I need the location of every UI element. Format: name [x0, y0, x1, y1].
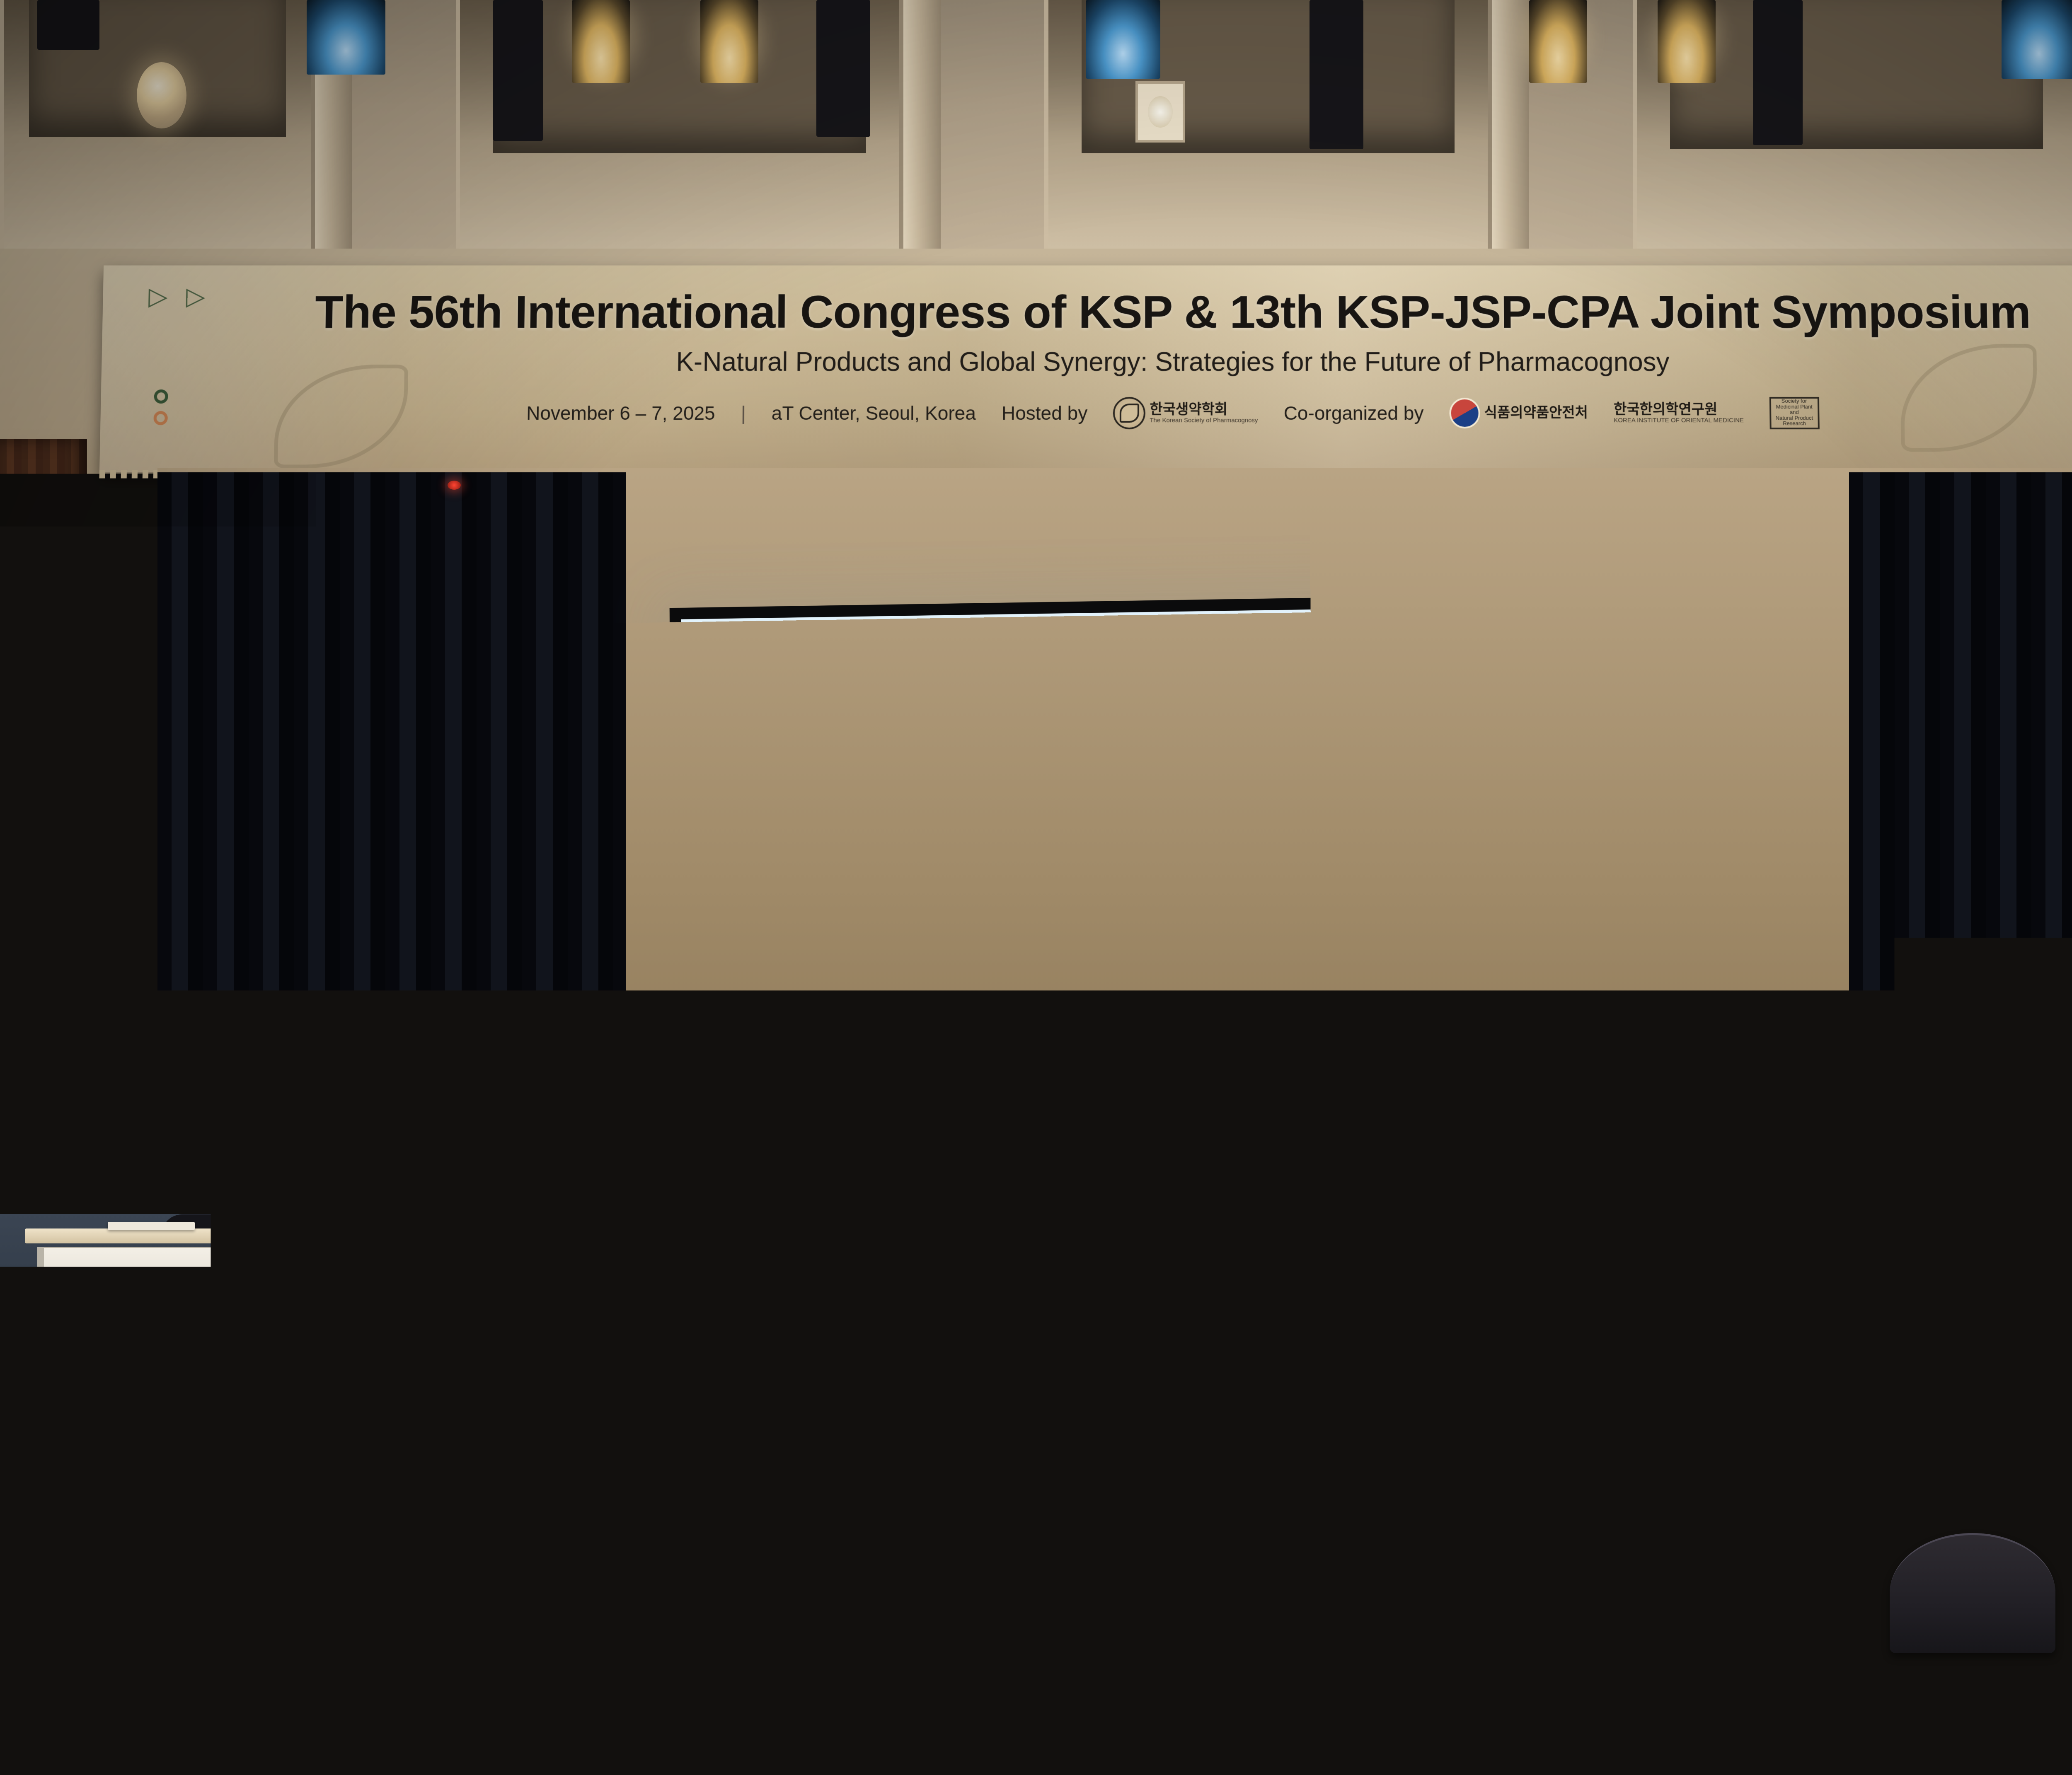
- banner-separator: |: [741, 402, 746, 424]
- map-place-label: Padang: [1279, 937, 1306, 947]
- stage-table-modesty-panel: [42, 1247, 307, 1309]
- congress-banner: ▷ ▷ <<< The 56th International Congress …: [99, 266, 2072, 473]
- slide-university-label: ITB: [900, 1105, 928, 1123]
- slide-university-label: Peking University: [867, 975, 973, 994]
- slide-blue-note: Malaysia and Indonesia covers only 1.3% …: [1222, 1056, 1666, 1127]
- stage-light-warm: [1529, 0, 1587, 83]
- world-collaboration-panel: Field ResearchJapanBrazil, PeruIndonesia…: [721, 873, 1234, 1190]
- slide-university-label: USM: [876, 1054, 911, 1071]
- host-org-en: The Korean Society of Pharmacognosy: [1150, 417, 1258, 424]
- slide-bottom-note: Malaysia and Indonesia belong to Mega-Di…: [721, 1151, 1661, 1205]
- coorg-kiom-logo: 한국한의학연구원 KOREA INSTITUTE OF ORIENTAL MED…: [1614, 402, 1744, 424]
- map-place-label: Kalimantan: [1482, 915, 1522, 925]
- ceiling-beam: [1492, 0, 1529, 265]
- host-org-name: 한국생약학회 The Korean Society of Pharmacogno…: [1150, 402, 1258, 424]
- smartphone-icon[interactable]: [1664, 1222, 1726, 1261]
- chair: [995, 1548, 1160, 1672]
- stage-table-top: [25, 1228, 340, 1243]
- map-place-label: INDIAN: [1240, 1018, 1267, 1028]
- map-place-label: Palembang: [1336, 962, 1376, 972]
- slide-university-group: Hoshi UniversityUppsala UniversityPeking…: [722, 875, 1229, 880]
- coorganized-by-label: Co-organized by: [1284, 402, 1424, 424]
- ceiling-coffer-inner: [493, 0, 866, 153]
- cream-folder[interactable]: [1558, 1487, 1658, 1514]
- stage-table-leg: [37, 1247, 44, 1350]
- landmass-sulawesi: [1591, 880, 1668, 1006]
- map-place-label: Banjarmasin: [1441, 972, 1485, 981]
- papers-on-desk: [1973, 1487, 2072, 1516]
- coorg2-name: 한국한의학연구원 KOREA INSTITUTE OF ORIENTAL MED…: [1614, 402, 1744, 424]
- ceiling-coffer-inner: [1670, 0, 2043, 149]
- coorg3-line1: Society for Medicinal Plant and: [1772, 398, 1816, 415]
- map-place-label: Medan: [1262, 862, 1287, 871]
- slide-ellipse-label: Field Research: [878, 886, 1001, 930]
- stage-side-table: [25, 1228, 340, 1353]
- slide-yellow-callout: Hoshi University collaborate with many u…: [721, 731, 1132, 817]
- slide-university-label: Hoshi University: [927, 943, 1027, 961]
- map-place-label: Jakarta: [1387, 1017, 1413, 1027]
- chair: [50, 1562, 215, 1686]
- banner-title: The 56th International Congress of KSP &…: [102, 285, 2072, 339]
- map-place-label: Palawan: [1489, 758, 1520, 767]
- stage-curtain-right: [1849, 472, 2072, 1214]
- coorg-ga-logo: Society for Medicinal Plant and Natural …: [1769, 397, 1819, 429]
- coorg2-en: KOREA INSTITUTE OF ORIENTAL MEDICINE: [1614, 417, 1744, 424]
- stage-light-rig: [37, 0, 99, 50]
- slide-ellipse-group: Field ResearchJapanBrazil, PeruIndonesia…: [722, 875, 1229, 880]
- conference-hall-photo: ▷ ▷ <<< The 56th International Congress …: [0, 0, 2072, 1775]
- ceiling-beam: [903, 0, 941, 265]
- slide-university-label: UiTM: [951, 1079, 989, 1097]
- banner-date: November 6 – 7, 2025: [526, 402, 715, 424]
- map-place-label: Thailand: [1298, 762, 1328, 771]
- map-place-label: Sumatra: [1314, 949, 1344, 959]
- stage-curtain-left: [157, 472, 626, 1214]
- research-site-circle: [1515, 878, 1562, 924]
- map-place-label: Borneo: [1474, 883, 1499, 892]
- map-place-label: SINGAPORE: [1349, 888, 1397, 897]
- coorg1-name: 식품의약품안전처: [1484, 406, 1588, 421]
- stage-light-rig: [1310, 0, 1363, 149]
- water-bottle[interactable]: [1500, 1450, 1524, 1520]
- stage-light-rig: [816, 0, 870, 137]
- banner-subtitle: K-Natural Products and Global Synergy: S…: [102, 346, 2072, 377]
- stage-light-blue: [2002, 0, 2072, 79]
- map-place-label: GREATER SUNDA ISLANDS: [1404, 994, 1601, 1009]
- stage-light-rig: [1753, 0, 1803, 145]
- map-place-label: OCEAN: [1240, 1038, 1268, 1047]
- map-place-label: China: [1514, 719, 1556, 733]
- papers-on-desk: [1343, 1450, 1446, 1475]
- recessed-ceiling-spot-icon: [1135, 81, 1185, 143]
- open-laptop[interactable]: [1579, 1533, 1728, 1629]
- stage-light-warm: [700, 0, 758, 83]
- wood-wall-panel-left: [0, 439, 87, 1144]
- desk-rail: [671, 1542, 1227, 1576]
- coorg2-kr: 한국한의학연구원: [1614, 402, 1744, 417]
- audience-desk: [671, 1516, 1227, 1542]
- continent-north-america: [1034, 904, 1184, 1030]
- caster-wheel-icon: [34, 1340, 46, 1352]
- presentation-slide: Collaboration Research with Foreign Coun…: [681, 604, 1687, 1216]
- slide-university-label: UPM: [913, 1080, 948, 1097]
- map-place-label: Bandar Seri Begawan: [1431, 820, 1509, 830]
- stage-light-rig: [493, 0, 543, 141]
- papers-on-stage-table: [108, 1222, 195, 1230]
- map-place-label: Bengkulu: [1251, 977, 1284, 986]
- map-place-label: Makassar: [1512, 970, 1547, 979]
- laptop-screen: [1585, 1539, 1722, 1623]
- map-place-label: Surabaya: [1437, 1024, 1471, 1034]
- caster-wheel-icon: [316, 1340, 328, 1352]
- map-place-label: Java Sea: [1441, 1009, 1474, 1019]
- slide-university-label: UM: [916, 1054, 943, 1071]
- audience-desk-front: [1376, 1603, 1550, 1629]
- map-place-label: BRUNEI: [1455, 832, 1485, 842]
- host-logo: 한국생약학회 The Korean Society of Pharmacogno…: [1113, 397, 1258, 429]
- slide-university-label: USP: [1186, 1087, 1219, 1104]
- ceiling-downlight-icon: [137, 62, 186, 128]
- slide-university-label: UKM: [876, 1080, 911, 1097]
- map-place-label: Sea: [1521, 737, 1548, 751]
- banner-footer: November 6 – 7, 2025 | aT Center, Seoul,…: [100, 397, 2072, 429]
- hosted-by-label: Hosted by: [1002, 402, 1087, 424]
- map-place-label: MALAYSIA: [1474, 857, 1549, 871]
- map-place-label: Ho Chi Minh City: [1370, 743, 1430, 753]
- taeguk-icon: [1449, 398, 1480, 428]
- stage-light-blue: [1086, 0, 1160, 79]
- chair: [265, 1558, 431, 1682]
- flower-logo-icon: [1113, 397, 1145, 429]
- slide-ellipse-label: Brazil, Peru: [1106, 1054, 1194, 1136]
- research-site-circle: [1228, 822, 1268, 863]
- coorg-mfds-logo: 식품의약품안전처: [1449, 398, 1588, 428]
- coorg3-line2: Natural Product Research: [1773, 415, 1816, 426]
- slide-university-label: Airlangga University: [929, 1105, 1050, 1123]
- chair: [1890, 1533, 2055, 1653]
- slide-university-label: University of Texas: [977, 975, 1091, 993]
- water-bottle[interactable]: [1935, 1438, 1959, 1507]
- map-place-label: Celebes Sea: [1581, 859, 1627, 869]
- phone-screen-preview: [1668, 1226, 1722, 1257]
- chair: [779, 1550, 945, 1674]
- slide-university-label: Uppsala University: [730, 966, 842, 984]
- map-place-label: Sulu Sea: [1569, 779, 1601, 789]
- stage-table-leg: [319, 1247, 326, 1350]
- slide-university-label: Chulalongkorn University: [898, 1018, 1048, 1037]
- slide-title: Collaboration Research with Foreign Coun…: [720, 636, 1394, 681]
- host-org-kr: 한국생약학회: [1150, 402, 1258, 417]
- projection-screen: Collaboration Research with Foreign Coun…: [670, 592, 1699, 1227]
- stage-light-warm: [572, 0, 630, 83]
- map-place-label: Andaman Sea: [1228, 733, 1278, 743]
- stage-light-warm: [1658, 0, 1716, 83]
- banner-venue: aT Center, Seoul, Korea: [772, 402, 976, 424]
- indicator-led-icon: [448, 481, 461, 490]
- stage-light-blue: [307, 0, 385, 75]
- landmass-philippines: [1581, 718, 1654, 823]
